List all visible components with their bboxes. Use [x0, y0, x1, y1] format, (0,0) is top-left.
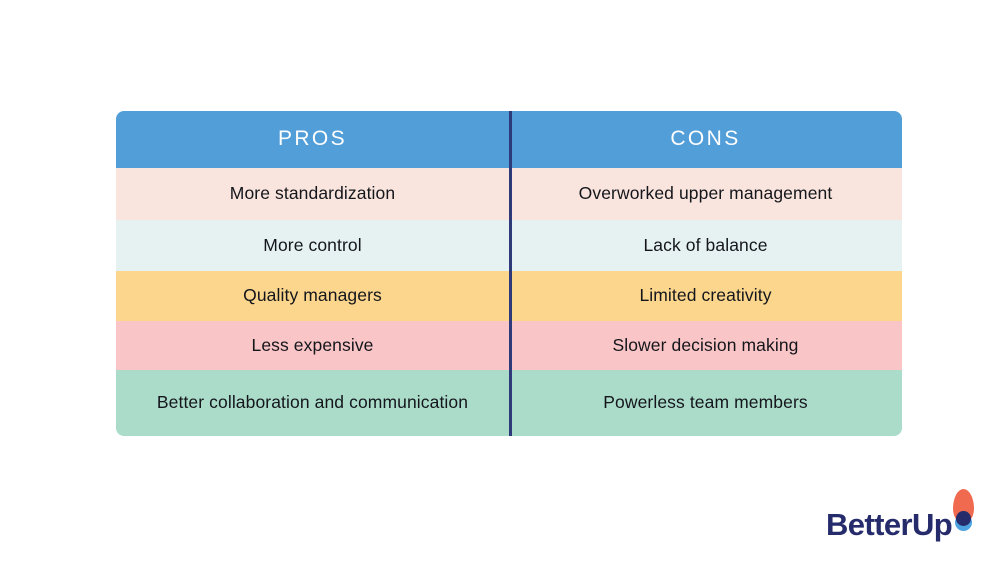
cell-cons-1: Overworked upper management: [509, 168, 902, 220]
cell-pros-2: More control: [116, 220, 509, 271]
cell-pros-1: More standardization: [116, 168, 509, 220]
betterup-wordmark: BetterUp: [826, 507, 952, 543]
cell-pros-5: Better collaboration and communication: [116, 370, 509, 436]
betterup-logo-mark-icon: [946, 489, 984, 547]
pros-and-cons-comparison-table: PROS CONS More standardization Overworke…: [116, 111, 902, 436]
cell-pros-3: Quality managers: [116, 271, 509, 321]
cell-pros-4: Less expensive: [116, 321, 509, 370]
cell-cons-5: Powerless team members: [509, 370, 902, 436]
circle-navy-icon: [956, 511, 971, 526]
cell-cons-4: Slower decision making: [509, 321, 902, 370]
column-header-cons: CONS: [509, 111, 902, 168]
betterup-logo: BetterUp: [826, 489, 986, 547]
cell-cons-2: Lack of balance: [509, 220, 902, 271]
page-canvas: PROS CONS More standardization Overworke…: [0, 0, 1000, 571]
cell-cons-3: Limited creativity: [509, 271, 902, 321]
column-divider: [509, 111, 512, 436]
column-header-pros: PROS: [116, 111, 509, 168]
